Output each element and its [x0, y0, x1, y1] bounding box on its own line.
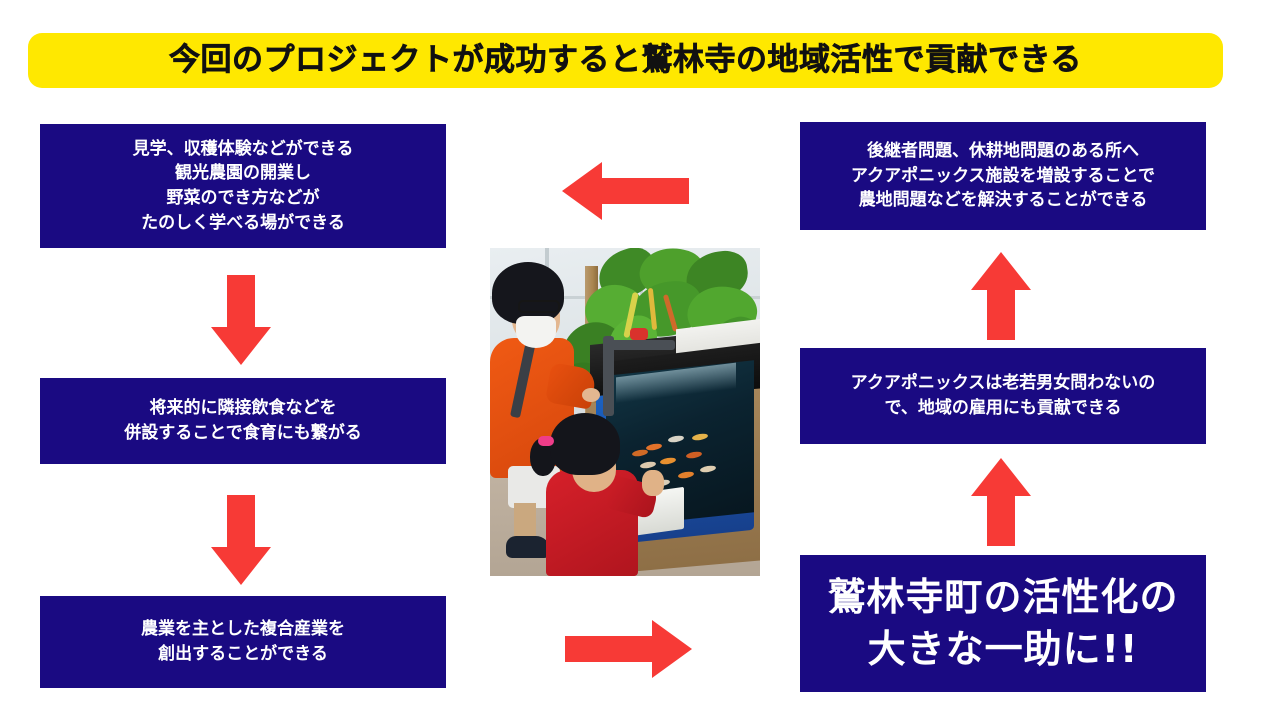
left-box-tourism-farm-text: 見学、収穫体験などができる 観光農園の開業し 野菜のでき方などが たのしく学べる… — [133, 137, 354, 236]
arrow-up-icon-1 — [968, 252, 1034, 340]
right-box-employment: アクアポニックスは老若男女問わないの で、地域の雇用にも貢献できる — [800, 348, 1206, 444]
arrow-left-icon — [562, 160, 689, 222]
right-box-farmland-issues-text: 後継者問題、休耕地問題のある所へ アクアポニックス施設を増設することで 農地問題… — [851, 139, 1155, 213]
right-box-employment-text: アクアポニックスは老若男女問わないの で、地域の雇用にも貢献できる — [851, 371, 1156, 420]
arrow-down-icon-2 — [208, 495, 274, 585]
left-box-tourism-farm: 見学、収穫体験などができる 観光農園の開業し 野菜のでき方などが たのしく学べる… — [40, 124, 446, 248]
arrow-down-icon-1 — [208, 275, 274, 365]
left-box-food-education-text: 将来的に隣接飲食などを 併設することで食育にも繋がる — [124, 396, 362, 445]
arrow-right-icon — [565, 618, 692, 680]
arrow-up-icon-2 — [968, 458, 1034, 546]
right-box-conclusion: 鷲林寺町の活性化の 大きな一助に!! — [800, 555, 1206, 692]
aquaponics-photo — [490, 248, 760, 576]
left-box-food-education: 将来的に隣接飲食などを 併設することで食育にも繋がる — [40, 378, 446, 464]
slide-canvas: 今回のプロジェクトが成功すると鷲林寺の地域活性で貢献できる 見学、収穫体験などが… — [0, 0, 1280, 720]
left-box-composite-industry: 農業を主とした複合産業を 創出することができる — [40, 596, 446, 688]
right-box-farmland-issues: 後継者問題、休耕地問題のある所へ アクアポニックス施設を増設することで 農地問題… — [800, 122, 1206, 230]
page-title: 今回のプロジェクトが成功すると鷲林寺の地域活性で貢献できる — [169, 45, 1082, 76]
right-box-conclusion-text: 鷲林寺町の活性化の 大きな一助に!! — [827, 572, 1178, 675]
title-banner: 今回のプロジェクトが成功すると鷲林寺の地域活性で貢献できる — [28, 33, 1223, 88]
left-box-composite-industry-text: 農業を主とした複合産業を 創出することができる — [141, 617, 345, 666]
